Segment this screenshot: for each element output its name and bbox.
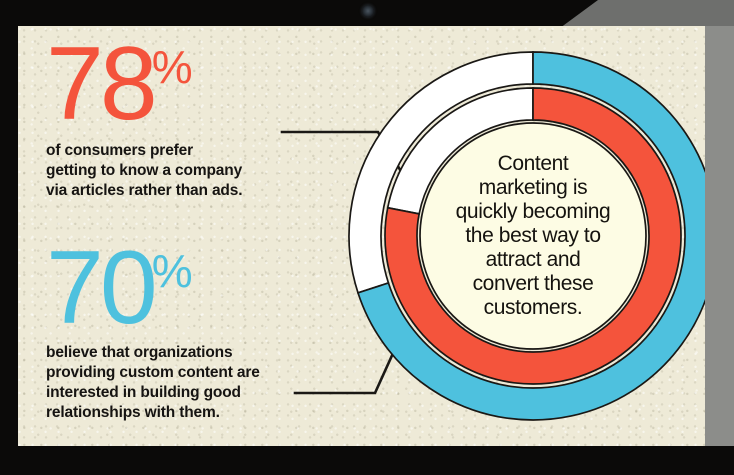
stat-caption-line: via articles rather than ads. (46, 181, 318, 201)
stat-figure-78: 78% (46, 40, 318, 129)
donut-chart: Content marketing is quickly becoming th… (348, 41, 705, 431)
stat-caption-70: believe that organizations providing cus… (46, 343, 318, 422)
stat-caption-line: interested in building good (46, 383, 318, 403)
donut-hub (420, 123, 646, 349)
screenshot-root: 78% of consumers prefer getting to know … (0, 0, 734, 475)
stat-block-78: 78% of consumers prefer getting to know … (46, 40, 318, 201)
stat-figure-70: 70% (46, 244, 318, 333)
stat-percent-sign-70: % (152, 245, 193, 297)
stat-caption-78: of consumers prefer getting to know a co… (46, 141, 318, 200)
stat-caption-line: getting to know a company (46, 161, 318, 181)
stat-caption-line: of consumers prefer (46, 141, 318, 161)
stat-block-70: 70% believe that organizations providing… (46, 244, 318, 423)
stat-percent-sign-78: % (152, 41, 193, 93)
stat-number-78: 78 (46, 26, 154, 142)
stat-caption-line: providing custom content are (46, 363, 318, 383)
stat-number-70: 70 (46, 230, 154, 346)
camera-dot-icon (362, 5, 374, 17)
donut-chart-svg (348, 41, 705, 431)
stat-caption-line: relationships with them. (46, 403, 318, 423)
bezel-right-edge (705, 26, 734, 446)
infographic-canvas: 78% of consumers prefer getting to know … (18, 26, 705, 446)
stat-caption-line: believe that organizations (46, 343, 318, 363)
